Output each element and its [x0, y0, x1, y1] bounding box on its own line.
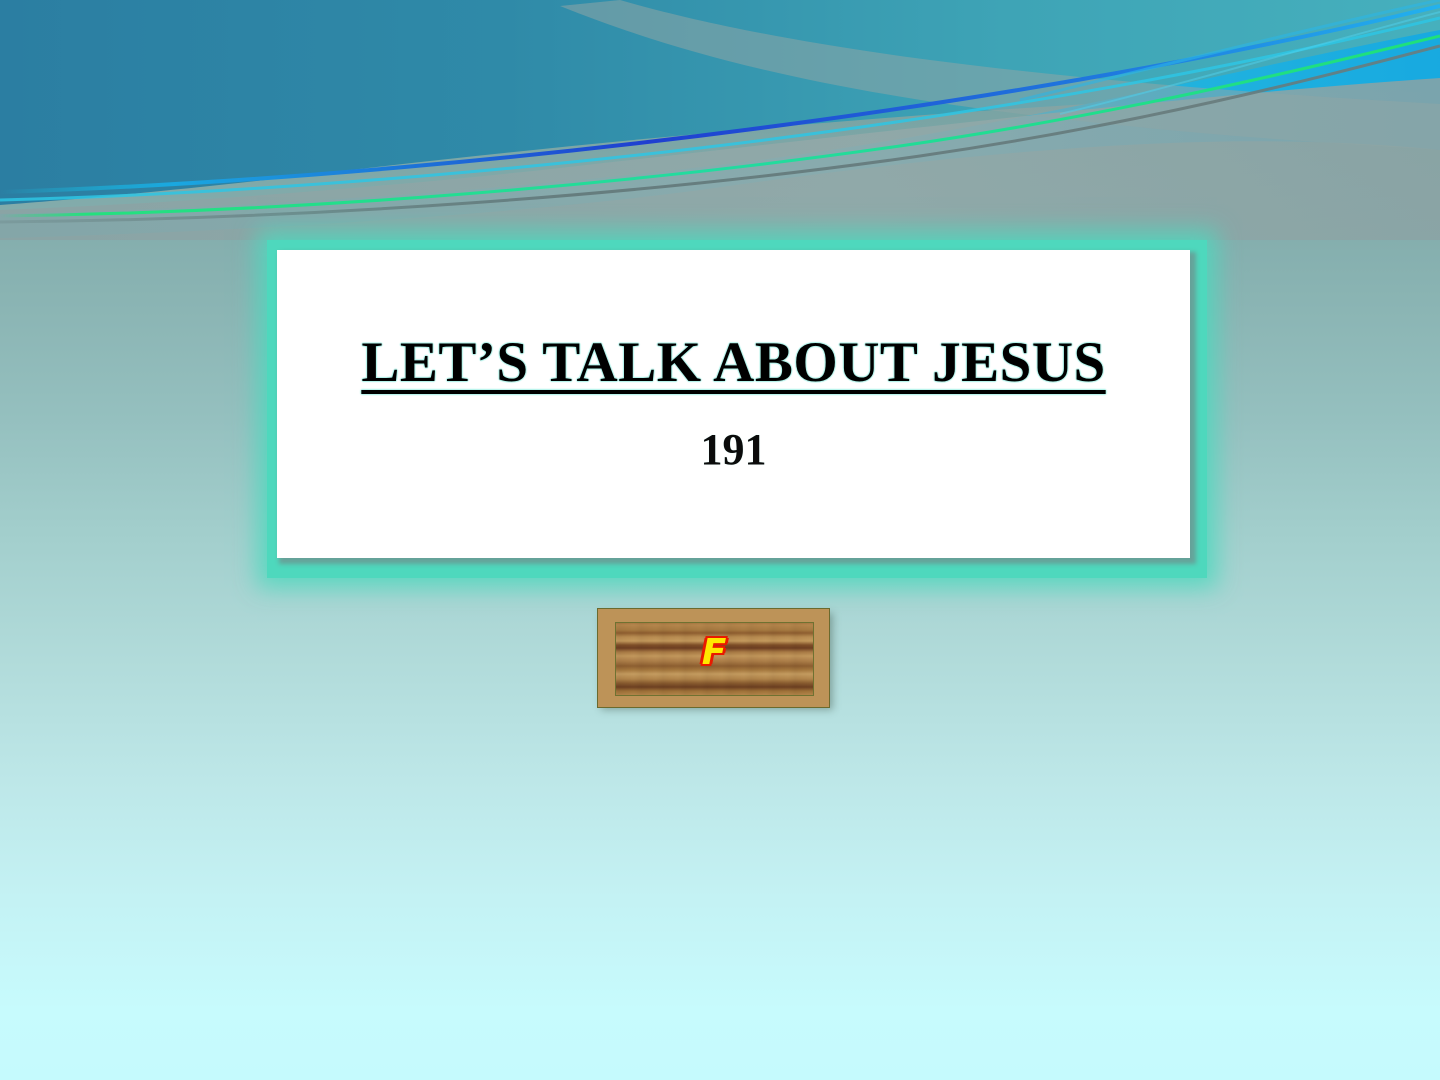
flow-wave-svg [0, 0, 1440, 240]
title-card: LET’S TALK ABOUT JESUS 191 [277, 250, 1190, 558]
wood-button-letter: F [694, 633, 734, 673]
header-wave-decoration [0, 0, 1440, 240]
page-title: LET’S TALK ABOUT JESUS [277, 332, 1190, 394]
slide-number: 191 [277, 426, 1190, 474]
presentation-slide: LET’S TALK ABOUT JESUS 191 F [0, 0, 1440, 1080]
title-card-content: LET’S TALK ABOUT JESUS 191 [277, 250, 1190, 558]
wood-plaque-button[interactable]: F [597, 608, 830, 708]
